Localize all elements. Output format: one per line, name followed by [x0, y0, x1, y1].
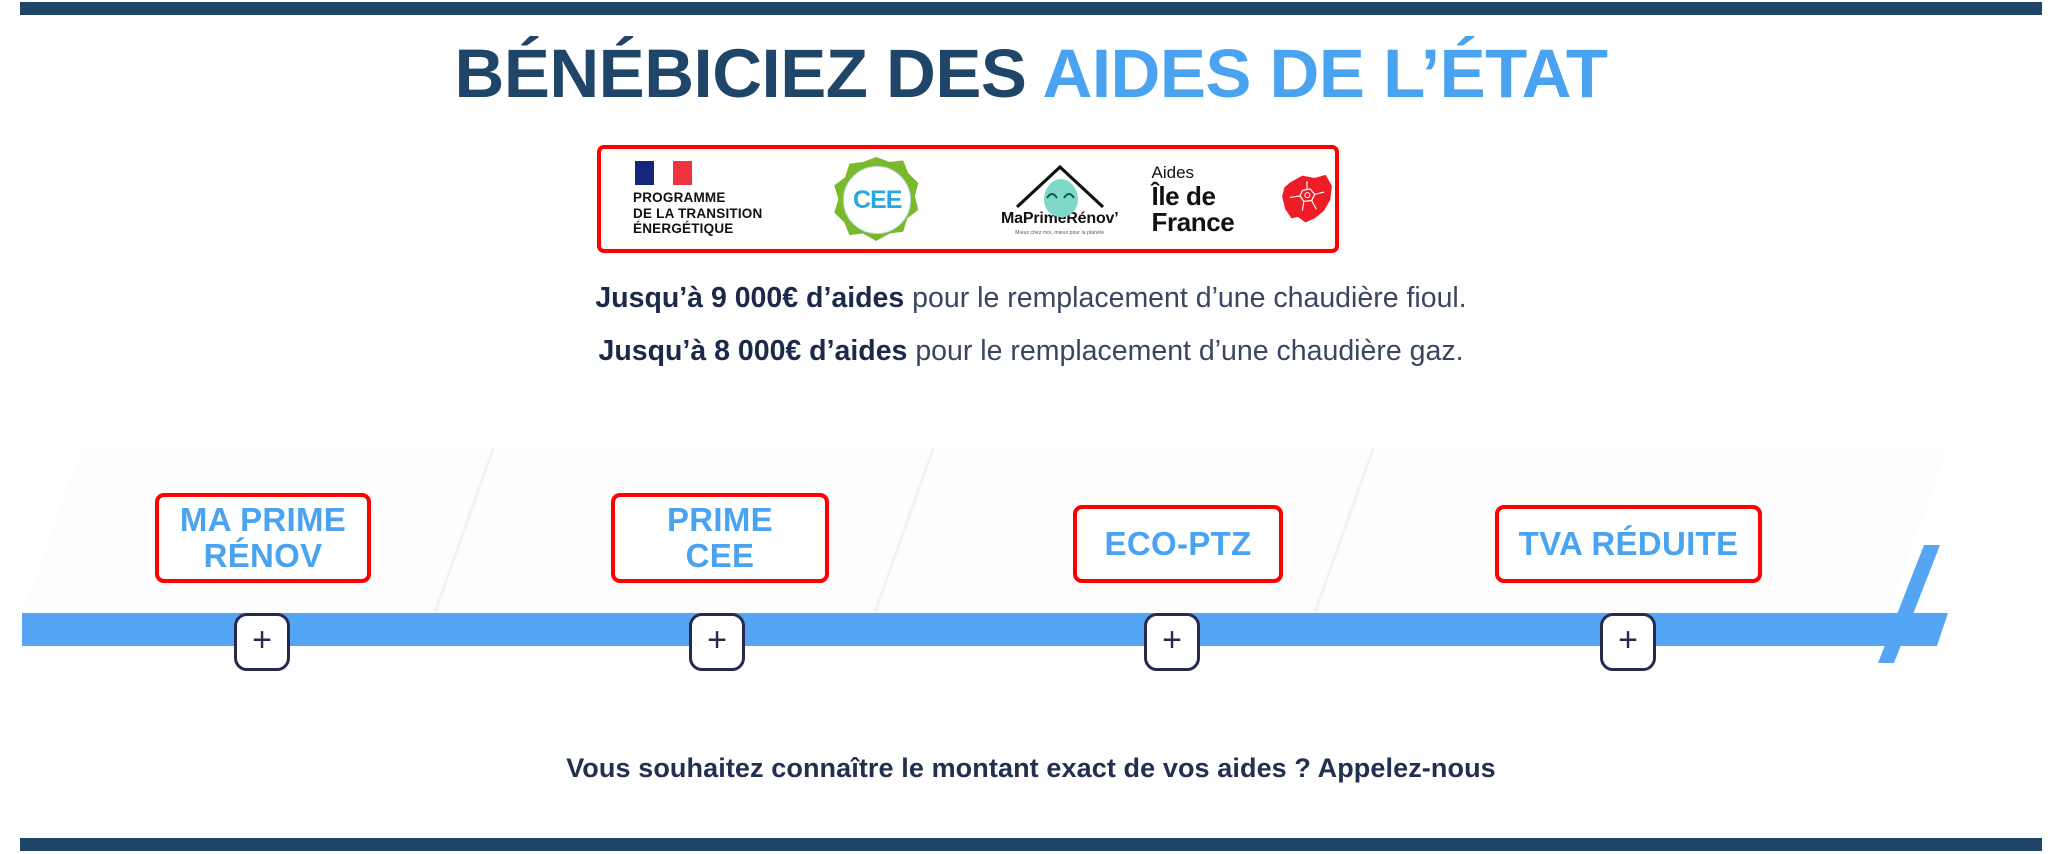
plus-icon: + [707, 623, 727, 657]
aids-ribbon: MA PRIME RÉNOV + PRIME CEE + ECO-PTZ + [0, 440, 2062, 660]
aid-tag-tva-reduite-line1: TVA RÉDUITE [1519, 526, 1739, 562]
aid-tag-eco-ptz-line1: ECO-PTZ [1105, 526, 1252, 562]
logo-programme-transition-energetique: PROGRAMME DE LA TRANSITION ÉNERGÉTIQUE [601, 149, 785, 249]
aid-toggle-tva-reduite[interactable]: + [1600, 613, 1656, 671]
aid-tag-tva-reduite[interactable]: TVA RÉDUITE [1495, 505, 1762, 583]
french-flag-icon [635, 161, 692, 185]
top-divider-bar [20, 2, 2042, 15]
aid-tag-ma-prime-renov-line2: RÉNOV [180, 538, 346, 574]
aid-tag-prime-cee-line1: PRIME [667, 502, 773, 538]
page-title-part-dark: BÉNÉBICIEZ DES [454, 35, 1042, 112]
page-title: BÉNÉBICIEZ DES AIDES DE L’ÉTAT [0, 38, 2062, 110]
partner-logos-strip: PROGRAMME DE LA TRANSITION ÉNERGÉTIQUE C… [597, 145, 1339, 253]
idf-line-1: Aides [1152, 164, 1195, 181]
aid-amount-fioul-strong: Jusqu’à 9 000€ d’aides [595, 282, 904, 314]
aid-amount-line-fioul: Jusqu’à 9 000€ d’aides pour le remplacem… [0, 284, 2062, 313]
logo-cee: CEE [785, 149, 969, 249]
smile-eyes-icon [1045, 189, 1077, 201]
ribbon-blue-bar [22, 613, 1948, 646]
aid-amount-lines: Jusqu’à 9 000€ d’aides pour le remplacem… [0, 284, 2062, 389]
aid-amount-gaz-rest: pour le remplacement d’une chaudière gaz… [907, 335, 1463, 367]
plus-icon: + [1618, 623, 1638, 657]
maprimerenov-tagline: Mieux chez moi, mieux pour la planète [1015, 230, 1104, 236]
pte-line-2: DE LA TRANSITION [633, 206, 762, 222]
bottom-divider-bar [20, 838, 2042, 851]
page-title-part-highlight: AIDES DE L’ÉTAT [1043, 35, 1608, 112]
aid-toggle-prime-cee[interactable]: + [689, 613, 745, 671]
aid-amount-fioul-rest: pour le remplacement d’une chaudière fio… [904, 282, 1466, 314]
house-roof-icon [1014, 163, 1106, 209]
ile-de-france-map-icon [1279, 166, 1335, 232]
plus-icon: + [1162, 623, 1182, 657]
ribbon-separator-1 [432, 448, 495, 616]
ribbon-separator-3 [1312, 448, 1375, 616]
aid-toggle-ma-prime-renov[interactable]: + [234, 613, 290, 671]
aid-tag-ma-prime-renov-line1: MA PRIME [180, 502, 346, 538]
page-root: BÉNÉBICIEZ DES AIDES DE L’ÉTAT PROGRAMME… [0, 0, 2062, 854]
logo-aides-ile-de-france: Aides Île de France [1152, 149, 1336, 249]
cee-label: CEE [853, 188, 901, 213]
aid-toggle-eco-ptz[interactable]: + [1144, 613, 1200, 671]
plus-icon: + [252, 623, 272, 657]
pte-line-1: PROGRAMME [633, 190, 762, 206]
aid-tag-ma-prime-renov[interactable]: MA PRIME RÉNOV [155, 493, 371, 583]
aid-amount-gaz-strong: Jusqu’à 8 000€ d’aides [598, 335, 907, 367]
aid-tag-prime-cee[interactable]: PRIME CEE [611, 493, 829, 583]
ribbon-separator-2 [872, 448, 935, 616]
aid-tag-eco-ptz[interactable]: ECO-PTZ [1073, 505, 1283, 583]
aid-tag-prime-cee-line2: CEE [667, 538, 773, 574]
cee-badge-icon: CEE [834, 157, 918, 241]
pte-line-3: ÉNERGÉTIQUE [633, 221, 762, 237]
call-to-action-text: Vous souhaitez connaître le montant exac… [0, 753, 2062, 784]
aid-amount-line-gaz: Jusqu’à 8 000€ d’aides pour le remplacem… [0, 337, 2062, 366]
logo-maprimerenov: MaPrimeRénov’ Mieux chez moi, mieux pour… [968, 149, 1152, 249]
idf-line-2: Île de France [1152, 183, 1272, 235]
